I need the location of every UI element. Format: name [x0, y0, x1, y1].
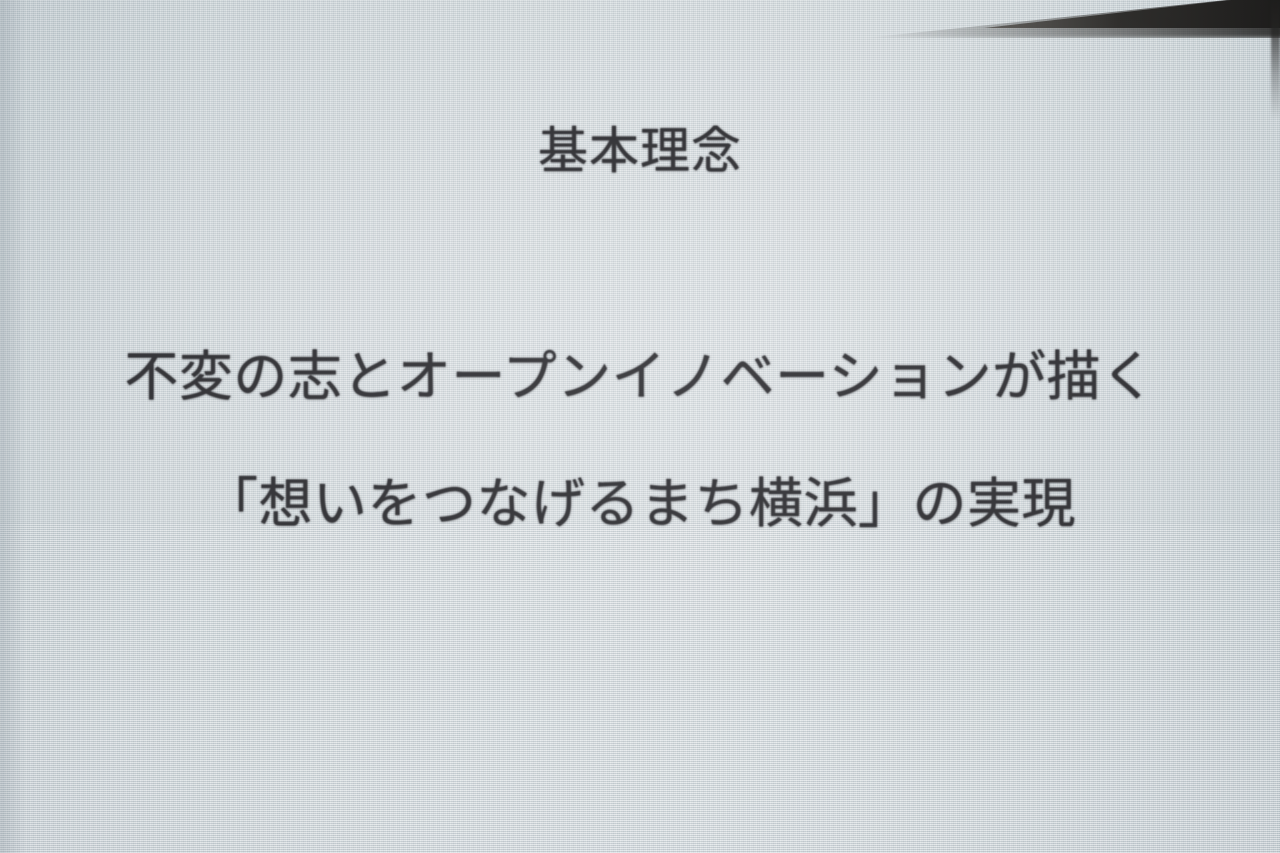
slide-content: 基本理念 不変の志とオープンイノベーションが描く 「想いをつなげるまち横浜」の実…: [0, 0, 1280, 853]
slide-body-line-1: 不変の志とオープンイノベーションが描く: [0, 347, 1280, 406]
screen-left-edge-shading: [0, 0, 26, 853]
screen-right-edge-frame: [1271, 0, 1280, 120]
projected-slide-photo: 基本理念 不変の志とオープンイノベーションが描く 「想いをつなげるまち横浜」の実…: [0, 0, 1280, 853]
slide-body-line-2: 「想いをつなげるまち横浜」の実現: [0, 474, 1280, 533]
slide-title: 基本理念: [0, 124, 1280, 179]
